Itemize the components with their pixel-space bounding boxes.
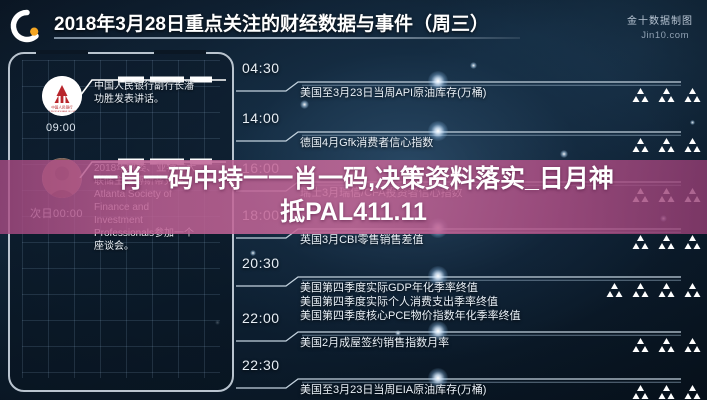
timeline-event-label[interactable]: 美国至3月23日当周EIA原油库存(万桶) <box>300 383 486 397</box>
triangle-cluster-icon <box>658 235 675 255</box>
triangle-cluster-icon <box>658 338 675 358</box>
watermark-line-1: 一肖一码中持一一肖一码,决策资料落实_日月神 <box>93 165 614 193</box>
timeline-row-labels: 英国3月CBI零售销售差值 <box>300 233 423 247</box>
triangle-cluster-icon <box>658 138 675 158</box>
timeline-row-labels: 美国至3月23日当周API原油库存(万桶) <box>300 86 486 100</box>
triangle-cluster-icon <box>684 283 701 303</box>
triangle-cluster-icon <box>658 283 675 303</box>
page-header: 2018年3月28日重点关注的财经数据与事件（周三） 金十数据制图 Jin10.… <box>0 0 707 52</box>
timeline-event-label[interactable]: 英国3月CBI零售销售差值 <box>300 233 423 247</box>
timeline-row-time: 04:30 <box>242 60 280 76</box>
watermark-line-2: 抵PAL411.11 <box>0 196 707 229</box>
timeline-importance-rating <box>632 385 701 400</box>
timeline-event-label[interactable]: 德国4月Gfk消费者信心指数 <box>300 136 433 150</box>
timeline-importance-rating <box>632 235 701 255</box>
timeline-event-label[interactable]: 美国第四季度实际个人消费支出季率终值 <box>300 295 521 309</box>
triangle-cluster-icon <box>632 138 649 158</box>
triangle-cluster-icon <box>632 283 649 303</box>
triangle-cluster-icon <box>684 138 701 158</box>
timeline-row-labels: 德国4月Gfk消费者信心指数 <box>300 136 433 150</box>
timeline-event-label[interactable]: 美国第四季度核心PCE物价指数年化季率终值 <box>300 309 521 323</box>
triangle-cluster-icon <box>632 385 649 400</box>
timeline-row-labels: 美国第四季度实际GDP年化季率终值美国第四季度实际个人消费支出季率终值美国第四季… <box>300 281 521 323</box>
timeline-event-label[interactable]: 美国第四季度实际GDP年化季率终值 <box>300 281 521 295</box>
timeline-event-label[interactable]: 美国至3月23日当周API原油库存(万桶) <box>300 86 486 100</box>
timeline-row-labels: 美国2月成屋签约销售指数月率 <box>300 336 449 350</box>
triangle-cluster-icon <box>632 235 649 255</box>
triangle-cluster-icon <box>606 283 623 303</box>
triangle-cluster-icon <box>684 338 701 358</box>
panel-event-text: 中国人民银行副行长潘功胜发表讲话。 <box>94 80 198 106</box>
timeline-importance-rating <box>632 138 701 158</box>
timeline-importance-rating <box>632 338 701 358</box>
svg-text:中国人民银行: 中国人民银行 <box>51 104 73 109</box>
triangle-cluster-icon <box>684 385 701 400</box>
triangle-cluster-icon <box>658 385 675 400</box>
timeline-event-label[interactable]: 美国2月成屋签约销售指数月率 <box>300 336 449 350</box>
timeline-row-time: 14:00 <box>242 110 280 126</box>
page-title: 2018年3月28日重点关注的财经数据与事件（周三） <box>54 9 489 36</box>
triangle-cluster-icon <box>684 88 701 108</box>
triangle-cluster-icon <box>632 338 649 358</box>
svg-text:THE PEOPLE'S BANK OF CHINA: THE PEOPLE'S BANK OF CHINA <box>46 110 78 113</box>
timeline-row-time: 22:30 <box>242 357 280 373</box>
brand-label-cn: 金十数据制图 <box>627 12 693 27</box>
triangle-cluster-icon <box>658 88 675 108</box>
panel-event-card[interactable]: 中国人民银行 THE PEOPLE'S BANK OF CHINA 中国人民银行… <box>8 52 234 152</box>
pboc-logo-icon: 中国人民银行 THE PEOPLE'S BANK OF CHINA <box>42 76 82 116</box>
timeline-importance-rating <box>606 283 701 303</box>
watermark-text: 一肖一码中持一一肖一码,决策资料落实_日月神 抵PAL411.11 <box>0 163 707 229</box>
timeline-row-time: 22:00 <box>242 310 280 326</box>
panel-event-time: 09:00 <box>46 122 76 134</box>
triangle-cluster-icon <box>684 235 701 255</box>
jin10-ring-logo-icon <box>10 9 44 43</box>
timeline-row-labels: 美国至3月23日当周EIA原油库存(万桶) <box>300 383 486 397</box>
brand-label-en: Jin10.com <box>641 30 689 41</box>
triangle-cluster-icon <box>632 88 649 108</box>
title-underline <box>54 37 520 39</box>
timeline-importance-rating <box>632 88 701 108</box>
timeline-row-time: 20:30 <box>242 255 280 271</box>
